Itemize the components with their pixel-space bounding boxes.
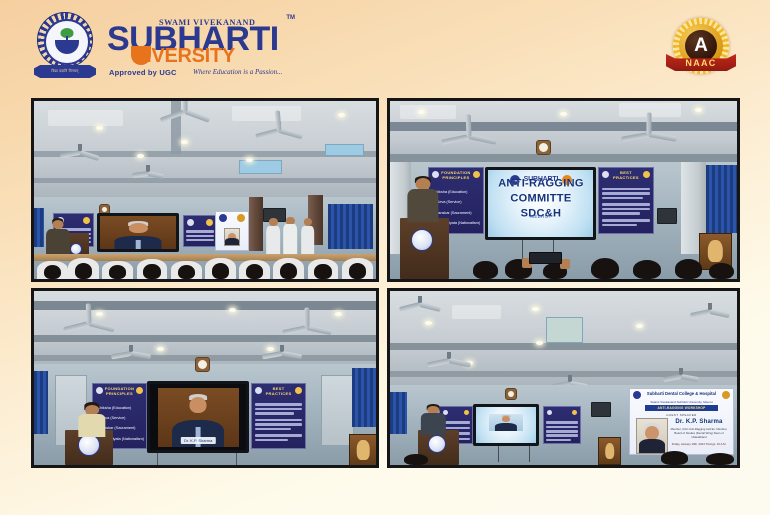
fan-blade — [465, 114, 471, 136]
window-curtain — [390, 392, 407, 434]
poster-best-practices — [543, 406, 581, 444]
ceiling-fan — [130, 165, 166, 175]
ceiling-slab — [452, 305, 501, 319]
poster-title: FOUNDATION PRINCIPLES — [102, 387, 138, 397]
poster-text-line — [546, 439, 571, 442]
window-curtain — [34, 208, 44, 247]
ceiling-fan — [253, 122, 305, 136]
video-call-feed: Dr. K.P. Sharma — [158, 388, 239, 447]
ceiling-slab — [232, 106, 300, 120]
ceiling-fan — [425, 352, 473, 364]
banner-crest-icon — [633, 391, 641, 399]
audience-member — [143, 264, 160, 279]
ceiling-beam — [34, 178, 376, 183]
poster-seal-icon — [295, 387, 302, 394]
ceiling-light — [96, 126, 103, 130]
ceiling-light — [157, 347, 164, 351]
audience-member — [178, 265, 195, 279]
poster-best-practices — [183, 215, 217, 247]
poster-text-line — [602, 219, 649, 222]
page-header: विद्या ददाति विनयम् SWAMI VIVEKANAND TM … — [0, 0, 770, 92]
slide-title-line-1: ANTI-RAGGING — [493, 177, 590, 192]
ceiling-fan — [619, 126, 679, 140]
poster-text-line — [442, 421, 471, 424]
ceiling-fan — [260, 345, 304, 357]
screen-stand — [157, 451, 158, 465]
university-branding: विद्या ददाति विनयम् SWAMI VIVEKANAND TM … — [34, 10, 297, 82]
speaker-head — [129, 223, 147, 233]
poster-text-line — [186, 235, 214, 238]
poster-text-line — [255, 428, 291, 431]
poster-text-line — [602, 197, 643, 200]
poster-text-line — [442, 427, 471, 430]
audience-member — [709, 263, 733, 280]
ceiling-fan — [661, 368, 701, 378]
fan-blade — [305, 307, 310, 327]
wall-clock-icon — [536, 140, 551, 155]
window-curtain — [706, 165, 737, 233]
banner-speaker-name: Dr. K.P. Sharma — [668, 419, 729, 425]
audience-member — [591, 258, 619, 279]
poster-text-line — [546, 421, 578, 424]
poster-text-line — [546, 426, 578, 429]
video-name-label: Dr. K.P. Sharma — [181, 437, 215, 444]
wall-speaker-icon — [657, 208, 676, 224]
ceiling-fan — [157, 103, 213, 117]
poster-text-line — [255, 403, 301, 406]
audience-member — [44, 265, 61, 279]
banner-crest-icon — [237, 214, 245, 222]
podium-speaker — [421, 404, 445, 435]
speaker-torso — [421, 413, 445, 436]
screen-surface: Dr. K.P. Sharma — [150, 384, 247, 449]
ceiling-fan — [397, 296, 443, 308]
speaker-torso — [407, 189, 438, 222]
podium-crest-icon — [411, 229, 433, 251]
ceiling-fan — [439, 128, 499, 142]
poster-seal-icon — [572, 410, 577, 415]
screen-stand — [236, 451, 237, 465]
fan-blade — [647, 112, 652, 134]
university-tagline: Where Education is a Passion... — [193, 68, 282, 76]
poster-text-line — [546, 430, 578, 433]
ceiling-fan — [58, 144, 102, 156]
poster-text-line — [602, 188, 649, 191]
photo-3-scene: FOUNDATION PRINCIPLES Shiksha (Education… — [34, 291, 376, 465]
photo-2-scene: FOUNDATION PRINCIPLES Shiksha (Education… — [390, 101, 737, 279]
poster-seal-icon — [547, 410, 552, 415]
ceiling-light — [246, 158, 253, 162]
audience-member — [314, 264, 331, 279]
crest-lamp-icon — [55, 40, 79, 54]
window-curtain — [328, 204, 372, 249]
ceiling-beam — [34, 335, 376, 343]
audience-foreground — [390, 448, 737, 465]
poster-seal-icon — [83, 217, 90, 224]
poster-text-line — [255, 434, 301, 437]
photo-4: Subharti Dental College & Hospital Swami… — [387, 288, 740, 468]
wall-speaker-icon — [591, 402, 610, 416]
audience-member — [633, 260, 661, 279]
wall-clock-icon — [195, 357, 210, 372]
ceiling-light — [335, 312, 342, 316]
banner-university-name: Swami Vivekanand Subharti University, Me… — [630, 400, 732, 404]
host-torso — [78, 414, 105, 438]
audience-member — [212, 263, 229, 279]
ceiling-light — [425, 321, 432, 325]
audience-member — [280, 263, 297, 279]
poster-best-practices: BEST PRACTICES — [251, 383, 306, 449]
smartphone-recording — [529, 252, 562, 264]
fan-blade — [183, 98, 188, 111]
wall-clock-icon — [505, 388, 517, 400]
ceiling-light — [532, 307, 539, 311]
poster-text-line — [602, 212, 639, 215]
audience-member — [75, 263, 92, 279]
university-crest-icon: विद्या ददाति विनयम् — [34, 10, 96, 80]
poster-page: विद्या ददाति विनयम् SWAMI VIVEKANAND TM … — [0, 0, 770, 515]
poster-text-line — [186, 239, 214, 242]
photo-2: FOUNDATION PRINCIPLES Shiksha (Education… — [387, 98, 740, 282]
presentation-screen: SUBHARTI ANTI-RAGGING COMMITTE SDC&H MEE… — [485, 167, 596, 240]
audience-member — [473, 261, 497, 279]
screen-surface: SUBHARTI ANTI-RAGGING COMMITTE SDC&H MEE… — [488, 170, 593, 237]
crest-motto-ribbon: विद्या ददाति विनयम् — [34, 65, 96, 78]
crest-inner-disc — [44, 19, 90, 65]
poster-text-line — [186, 230, 214, 233]
podium-host — [78, 402, 105, 437]
guest-head — [190, 397, 207, 413]
ceiling-light — [560, 112, 567, 116]
audience-member — [675, 259, 703, 279]
poster-seal-icon — [643, 171, 650, 178]
poster-text-line — [602, 192, 649, 195]
poster-title: BEST PRACTICES — [262, 387, 296, 397]
ceiling-fan — [61, 315, 117, 329]
deity-portrait — [349, 434, 378, 467]
poster-best-practices: BEST PRACTICES — [598, 167, 654, 235]
poster-item: Seva (Service) — [437, 199, 462, 204]
guest-head — [502, 416, 510, 422]
poster-text-line — [255, 419, 301, 422]
poster-seal-icon — [464, 410, 469, 415]
banner-crest-icon — [219, 214, 227, 222]
poster-seal-icon — [187, 219, 194, 226]
banner-event-title: ANTI-RAGGING WORKSHOP — [645, 405, 719, 411]
video-feed — [489, 414, 523, 432]
poster-text-line — [255, 439, 288, 442]
audience-member — [109, 265, 126, 279]
university-wordmark: SWAMI VIVEKANAND TM SUBHARTI NIVERSITY A… — [107, 10, 297, 82]
ceiling-slab — [400, 105, 456, 119]
ceiling-beam — [390, 154, 737, 161]
naac-label: NAAC — [664, 58, 738, 68]
poster-title: BEST PRACTICES — [609, 171, 643, 181]
poster-text-line — [602, 208, 649, 211]
photo-4-scene: Subharti Dental College & Hospital Swami… — [390, 291, 737, 465]
banner-speaker-designation: Member, UGC Anti-Ragging Cell Ex. Member… — [668, 428, 729, 439]
presentation-screen — [473, 404, 539, 446]
naac-grade-badge: A NAAC — [664, 16, 738, 84]
presentation-screen: Dr. K.P. Sharma — [147, 381, 250, 452]
window-curtain — [352, 368, 376, 427]
wordmark-u-swash — [131, 46, 151, 65]
approved-by-ugc-text: Approved by UGC — [109, 68, 177, 77]
ceiling-slab — [48, 110, 123, 126]
ceiling-duct — [546, 317, 583, 343]
trademark-mark: TM — [286, 15, 295, 21]
audience-member — [246, 264, 263, 279]
banner-guest-label: GUEST SPEAKER — [630, 413, 732, 417]
photo-1 — [31, 98, 379, 282]
audience-foreground — [390, 251, 737, 279]
audience-member — [661, 451, 689, 465]
ceiling-beam — [390, 343, 737, 350]
poster-seal-icon — [206, 219, 213, 226]
ceiling-fan — [688, 303, 732, 315]
photo-grid: FOUNDATION PRINCIPLES Shiksha (Education… — [31, 98, 740, 468]
poster-text-line — [255, 412, 294, 415]
poster-text-line — [546, 434, 578, 437]
ceiling-light — [418, 110, 425, 114]
audience-seated — [34, 243, 376, 279]
poster-text-line — [602, 203, 649, 206]
banner-college-name: Subharti Dental College & Hospital — [645, 391, 719, 396]
photo-1-scene — [34, 101, 376, 279]
window-curtain — [34, 371, 48, 434]
ceiling-fan — [550, 375, 590, 385]
poster-title: FOUNDATION PRINCIPLES — [438, 171, 474, 181]
slide-subtitle: MEERUT — [488, 214, 593, 219]
photo-head — [645, 426, 659, 440]
audience-member — [404, 454, 428, 465]
poster-text-line — [602, 224, 636, 227]
audience-member — [349, 263, 366, 279]
audience-member — [706, 453, 734, 465]
podium-speaker — [407, 176, 438, 222]
guest-torso — [495, 423, 517, 431]
skylight-panel — [239, 160, 282, 174]
ceiling-fan — [280, 319, 334, 333]
ceiling-fan — [109, 345, 153, 357]
screen-surface — [476, 407, 536, 443]
photo-3: FOUNDATION PRINCIPLES Shiksha (Education… — [31, 288, 379, 468]
skylight-panel — [325, 144, 365, 157]
speaker-head — [52, 220, 63, 229]
poster-item: Sanskar (Sacrament) — [436, 210, 472, 215]
poster-text-line — [255, 408, 301, 411]
event-banner: Subharti Dental College & Hospital Swami… — [629, 388, 733, 454]
poster-text-line — [255, 423, 301, 426]
banner-naac-icon — [722, 391, 730, 399]
